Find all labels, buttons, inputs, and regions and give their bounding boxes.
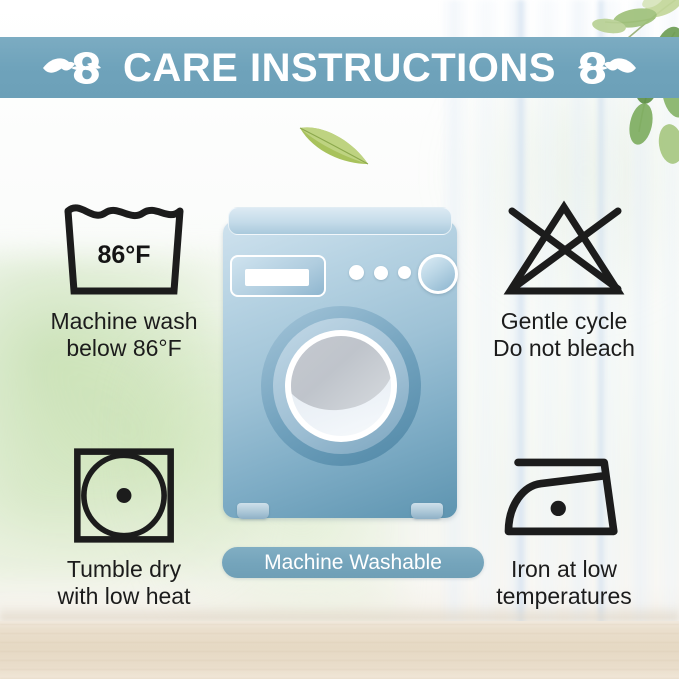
door-glass-highlight [291, 336, 391, 421]
care-symbol-caption: Machine wash below 86°F [12, 308, 236, 362]
care-symbol-caption: Tumble dry with low heat [12, 556, 236, 610]
indicator-dot [374, 266, 388, 280]
care-symbol-caption: Gentle cycle Do not bleach [452, 308, 676, 362]
wash-tub-icon-wrapper: 86°F [12, 192, 236, 302]
care-symbol-tumble-dry: Tumble dry with low heat [12, 440, 236, 610]
tumble-dry-low-icon [68, 444, 180, 547]
care-symbol-caption: Iron at low temperatures [452, 556, 676, 610]
detergent-drawer [230, 255, 326, 297]
detergent-drawer-slot [245, 269, 309, 286]
wash-temperature-value: 86°F [54, 241, 194, 270]
iron-icon-wrapper [452, 440, 676, 550]
indicator-dot [349, 265, 364, 280]
fleur-de-lis-icon [576, 46, 638, 90]
page-title: CARE INSTRUCTIONS [123, 48, 556, 88]
care-symbol-do-not-bleach: Gentle cycle Do not bleach [452, 192, 676, 362]
do-not-bleach-triangle-icon [494, 195, 634, 299]
care-symbol-machine-wash: 86°F Machine wash below 86°F [12, 192, 236, 362]
washing-machine-door [261, 306, 421, 466]
do-not-bleach-icon-wrapper [452, 192, 676, 302]
tumble-dry-icon-wrapper [12, 440, 236, 550]
machine-foot [237, 503, 269, 519]
washing-machine-body [223, 221, 457, 518]
fleur-de-lis-icon [41, 46, 103, 90]
header-banner: CARE INSTRUCTIONS [0, 37, 679, 98]
washing-machine-lid [228, 207, 452, 235]
indicator-lights [349, 265, 411, 280]
iron-low-temp-icon [497, 445, 631, 545]
machine-foot [411, 503, 443, 519]
door-inner-ring [273, 318, 409, 454]
door-glass [291, 336, 391, 436]
washing-machine-illustration [223, 207, 457, 527]
background-wood-table [0, 621, 679, 679]
care-symbol-iron: Iron at low temperatures [452, 440, 676, 610]
door-rim [285, 330, 397, 442]
machine-washable-label: Machine Washable [264, 552, 442, 573]
machine-washable-badge: Machine Washable [222, 547, 484, 578]
control-dial [418, 254, 458, 294]
indicator-dot [398, 266, 411, 279]
care-instructions-infographic: CARE INSTRUCTIONS 86°F Machine wash [0, 0, 679, 679]
